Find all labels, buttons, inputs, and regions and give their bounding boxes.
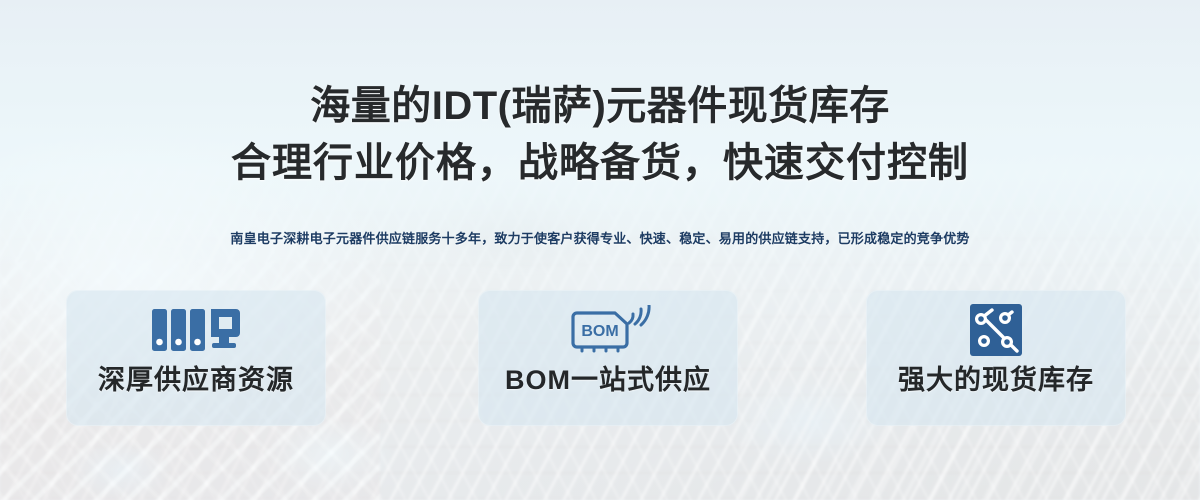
- headline-line-2: 合理行业价格，战略备货，快速交付控制: [0, 135, 1200, 192]
- promo-banner: 海量的IDT(瑞萨)元器件现货库存 合理行业价格，战略备货，快速交付控制 南皇电…: [0, 0, 1200, 500]
- headline: 海量的IDT(瑞萨)元器件现货库存 合理行业价格，战略备货，快速交付控制: [0, 78, 1200, 192]
- server-monitor-icon: [66, 304, 326, 356]
- circuit-nodes-icon: [866, 304, 1126, 356]
- feature-card-list: 深厚供应商资源 BOM: [0, 290, 1200, 426]
- bom-icon-text: BOM: [581, 323, 618, 340]
- headline-line-1: 海量的IDT(瑞萨)元器件现货库存: [0, 78, 1200, 135]
- banner-content: 海量的IDT(瑞萨)元器件现货库存 合理行业价格，战略备货，快速交付控制 南皇电…: [0, 0, 1200, 500]
- feature-card-spot-stock[interactable]: 强大的现货库存: [866, 290, 1126, 426]
- feature-card-supplier-resources[interactable]: 深厚供应商资源: [66, 290, 326, 426]
- feature-card-label: 强大的现货库存: [866, 360, 1126, 400]
- feature-card-label: BOM一站式供应: [478, 360, 738, 400]
- feature-card-label: 深厚供应商资源: [66, 360, 326, 400]
- subtitle: 南皇电子深耕电子元器件供应链服务十多年，致力于使客户获得专业、快速、稳定、易用的…: [0, 228, 1200, 247]
- feature-card-bom-supply[interactable]: BOM BOM一站式供应: [478, 290, 738, 426]
- bom-chip-signal-icon: BOM: [478, 304, 738, 356]
